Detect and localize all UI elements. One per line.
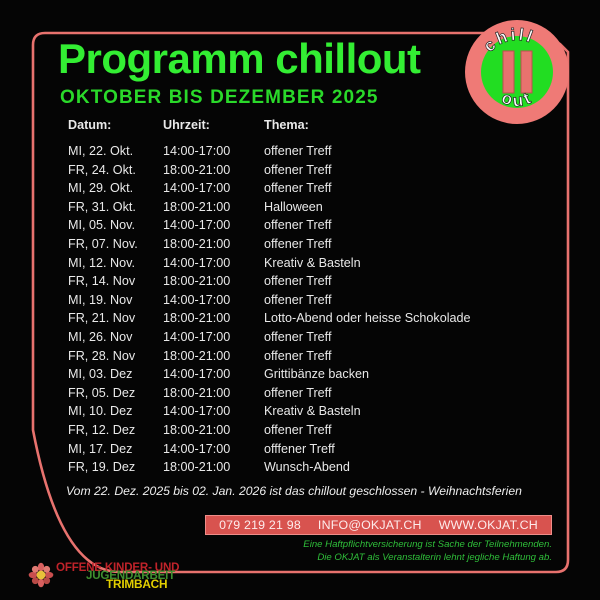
row-time: 14:00-17:00 [163, 144, 264, 158]
row-topic: offener Treff [264, 386, 548, 400]
row-topic: offener Treff [264, 181, 548, 195]
row-topic: offener Treff [264, 237, 548, 251]
table-row: MI, 10. Dez 14:00-17:00 Kreativ & Bastel… [68, 404, 548, 423]
row-date: FR, 28. Nov [68, 349, 163, 363]
disclaimer-line-2: Die OKJAT als Veranstalterin lehnt jegli… [303, 552, 552, 565]
row-topic: Lotto-Abend oder heisse Schokolade [264, 311, 548, 325]
row-date: MI, 03. Dez [68, 367, 163, 381]
table-row: FR, 31. Okt. 18:00-21:00 Halloween [68, 200, 548, 219]
row-topic: offener Treff [264, 274, 548, 288]
table-row: FR, 24. Okt. 18:00-21:00 offener Treff [68, 163, 548, 182]
table-row: FR, 07. Nov. 18:00-21:00 offener Treff [68, 237, 548, 256]
row-time: 14:00-17:00 [163, 367, 264, 381]
row-date: MI, 26. Nov [68, 330, 163, 344]
table-row: FR, 19. Dez 18:00-21:00 Wunsch-Abend [68, 460, 548, 479]
schedule-table: Datum: Uhrzeit: Thema: MI, 22. Okt. 14:0… [68, 118, 548, 479]
row-time: 18:00-21:00 [163, 386, 264, 400]
row-topic: Kreativ & Basteln [264, 256, 548, 270]
row-date: FR, 05. Dez [68, 386, 163, 400]
row-date: MI, 05. Nov. [68, 218, 163, 232]
row-date: MI, 12. Nov. [68, 256, 163, 270]
row-topic: Wunsch-Abend [264, 460, 548, 474]
disclaimer: Eine Haftpflichtversicherung ist Sache d… [303, 539, 552, 564]
table-row: MI, 19. Nov 14:00-17:00 offener Treff [68, 293, 548, 312]
table-row: MI, 29. Okt. 14:00-17:00 offener Treff [68, 181, 548, 200]
row-topic: offener Treff [264, 423, 548, 437]
contact-phone[interactable]: 079 219 21 98 [219, 518, 301, 532]
row-time: 14:00-17:00 [163, 256, 264, 270]
row-topic: offener Treff [264, 163, 548, 177]
row-time: 18:00-21:00 [163, 274, 264, 288]
row-time: 14:00-17:00 [163, 218, 264, 232]
row-topic: offfener Treff [264, 442, 548, 456]
row-time: 18:00-21:00 [163, 237, 264, 251]
row-time: 18:00-21:00 [163, 200, 264, 214]
row-time: 18:00-21:00 [163, 349, 264, 363]
row-time: 18:00-21:00 [163, 311, 264, 325]
row-date: MI, 22. Okt. [68, 144, 163, 158]
row-date: FR, 31. Okt. [68, 200, 163, 214]
row-topic: Grittibänze backen [264, 367, 548, 381]
row-date: MI, 29. Okt. [68, 181, 163, 195]
row-date: FR, 12. Dez [68, 423, 163, 437]
row-date: MI, 10. Dez [68, 404, 163, 418]
row-date: FR, 21. Nov [68, 311, 163, 325]
row-time: 14:00-17:00 [163, 330, 264, 344]
row-date: FR, 07. Nov. [68, 237, 163, 251]
row-topic: offener Treff [264, 330, 548, 344]
row-date: MI, 19. Nov [68, 293, 163, 307]
row-topic: offener Treff [264, 349, 548, 363]
table-row: MI, 17. Dez 14:00-17:00 offfener Treff [68, 442, 548, 461]
column-header-time: Uhrzeit: [163, 118, 264, 132]
row-topic: offener Treff [264, 218, 548, 232]
table-row: FR, 12. Dez 18:00-21:00 offener Treff [68, 423, 548, 442]
row-time: 18:00-21:00 [163, 163, 264, 177]
page-subtitle: OKTOBER BIS DEZEMBER 2025 [60, 88, 379, 107]
table-row: MI, 26. Nov 14:00-17:00 offener Treff [68, 330, 548, 349]
table-row: FR, 05. Dez 18:00-21:00 offener Treff [68, 386, 548, 405]
page-title: Programm chillout [58, 38, 421, 80]
table-row: MI, 12. Nov. 14:00-17:00 Kreativ & Baste… [68, 256, 548, 275]
contact-email[interactable]: INFO@OKJAT.CH [318, 518, 422, 532]
table-header-row: Datum: Uhrzeit: Thema: [68, 118, 548, 139]
okjat-logo: OFFENE KINDER- UND JUGENDARBEIT TRIMBACH [28, 559, 208, 593]
row-topic: Kreativ & Basteln [264, 404, 548, 418]
okjat-line-3: TRIMBACH [106, 577, 167, 591]
table-row: MI, 22. Okt. 14:00-17:00 offener Treff [68, 144, 548, 163]
holiday-closure-note: Vom 22. Dez. 2025 bis 02. Jan. 2026 ist … [66, 484, 522, 498]
table-row: MI, 03. Dez 14:00-17:00 Grittibänze back… [68, 367, 548, 386]
row-topic: offener Treff [264, 144, 548, 158]
row-date: FR, 24. Okt. [68, 163, 163, 177]
disclaimer-line-1: Eine Haftpflichtversicherung ist Sache d… [303, 539, 552, 552]
column-header-date: Datum: [68, 118, 163, 132]
chillout-logo: chill out [463, 18, 571, 126]
row-topic: Halloween [264, 200, 548, 214]
row-time: 14:00-17:00 [163, 404, 264, 418]
row-topic: offener Treff [264, 293, 548, 307]
row-date: FR, 14. Nov [68, 274, 163, 288]
table-row: MI, 05. Nov. 14:00-17:00 offener Treff [68, 218, 548, 237]
contact-band: 079 219 21 98 INFO@OKJAT.CH WWW.OKJAT.CH [205, 515, 552, 535]
table-row: FR, 14. Nov 18:00-21:00 offener Treff [68, 274, 548, 293]
poster-canvas: Programm chillout OKTOBER BIS DEZEMBER 2… [0, 0, 600, 600]
contact-website[interactable]: WWW.OKJAT.CH [439, 518, 538, 532]
row-date: FR, 19. Dez [68, 460, 163, 474]
row-time: 14:00-17:00 [163, 442, 264, 456]
flower-icon [28, 562, 54, 588]
table-row: FR, 28. Nov 18:00-21:00 offener Treff [68, 349, 548, 368]
row-date: MI, 17. Dez [68, 442, 163, 456]
row-time: 14:00-17:00 [163, 293, 264, 307]
table-row: FR, 21. Nov 18:00-21:00 Lotto-Abend oder… [68, 311, 548, 330]
column-header-topic: Thema: [264, 118, 548, 132]
row-time: 18:00-21:00 [163, 460, 264, 474]
row-time: 18:00-21:00 [163, 423, 264, 437]
row-time: 14:00-17:00 [163, 181, 264, 195]
